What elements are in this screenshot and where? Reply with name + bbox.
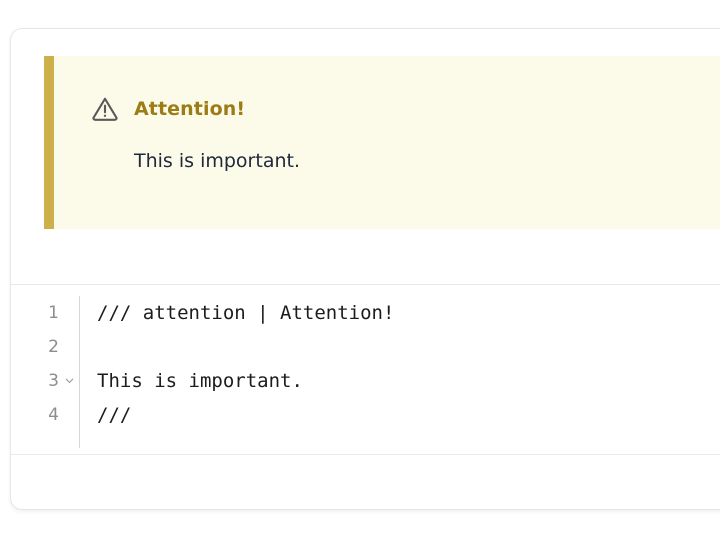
line-number: 4 (11, 407, 59, 424)
code-line-text[interactable]: /// (79, 406, 131, 425)
fold-placeholder (59, 414, 79, 416)
code-row[interactable]: 3 This is important. (11, 364, 720, 398)
callout-title-row: Attention! (90, 94, 720, 124)
code-row[interactable]: 1 /// attention | Attention! (11, 296, 720, 330)
line-number: 3 (11, 373, 59, 390)
line-number: 2 (11, 339, 59, 356)
callout-title: Attention! (134, 100, 245, 119)
chevron-down-icon[interactable] (59, 353, 79, 410)
attention-callout: Attention! This is important. (44, 56, 720, 229)
callout-body: Attention! This is important. (90, 94, 720, 175)
code-lines: 1 /// attention | Attention! 2 3 This is… (11, 296, 720, 432)
gutter-divider (79, 296, 80, 448)
preview-pane: Attention! This is important. (11, 29, 720, 285)
code-editor[interactable]: 1 /// attention | Attention! 2 3 This is… (11, 285, 720, 455)
code-row[interactable]: 4 /// (11, 398, 720, 432)
fold-placeholder (59, 346, 79, 348)
code-line-text[interactable]: This is important. (79, 372, 303, 391)
callout-accent-bar (44, 56, 54, 229)
warning-triangle-icon (90, 94, 120, 124)
code-row[interactable]: 2 (11, 330, 720, 364)
fold-placeholder (59, 312, 79, 314)
card-footer (11, 455, 720, 509)
callout-text: This is important. (134, 149, 720, 175)
code-line-text[interactable]: /// attention | Attention! (79, 304, 394, 323)
line-number: 1 (11, 305, 59, 322)
preview-card: Attention! This is important. 1 /// atte… (10, 28, 720, 510)
